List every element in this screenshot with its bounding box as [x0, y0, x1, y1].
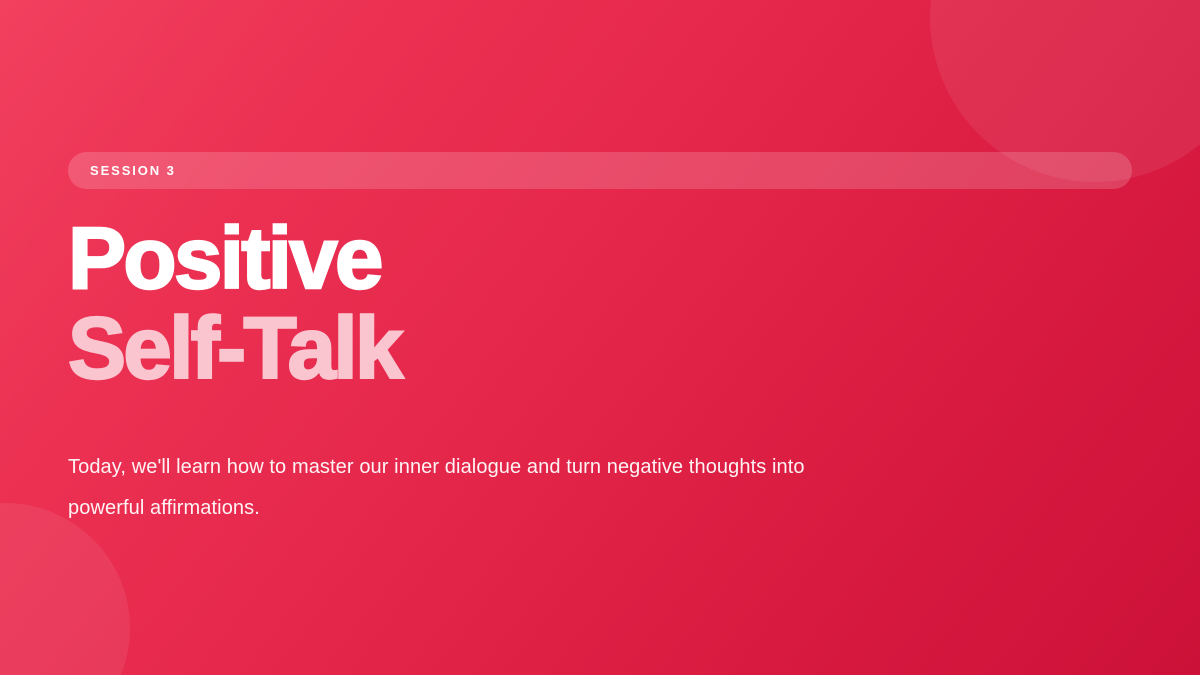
slide-title: Positive Self-Talk: [68, 214, 1132, 395]
slide-content: SESSION 3 Positive Self-Talk Today, we'l…: [68, 0, 1132, 675]
slide-title-line-1: Positive: [68, 214, 1132, 304]
presentation-slide: SESSION 3 Positive Self-Talk Today, we'l…: [0, 0, 1200, 675]
session-badge-label: SESSION 3: [90, 164, 176, 177]
session-badge: SESSION 3: [68, 152, 1132, 189]
slide-description: Today, we'll learn how to master our inn…: [68, 447, 828, 529]
slide-title-line-2: Self-Talk: [68, 304, 1132, 394]
